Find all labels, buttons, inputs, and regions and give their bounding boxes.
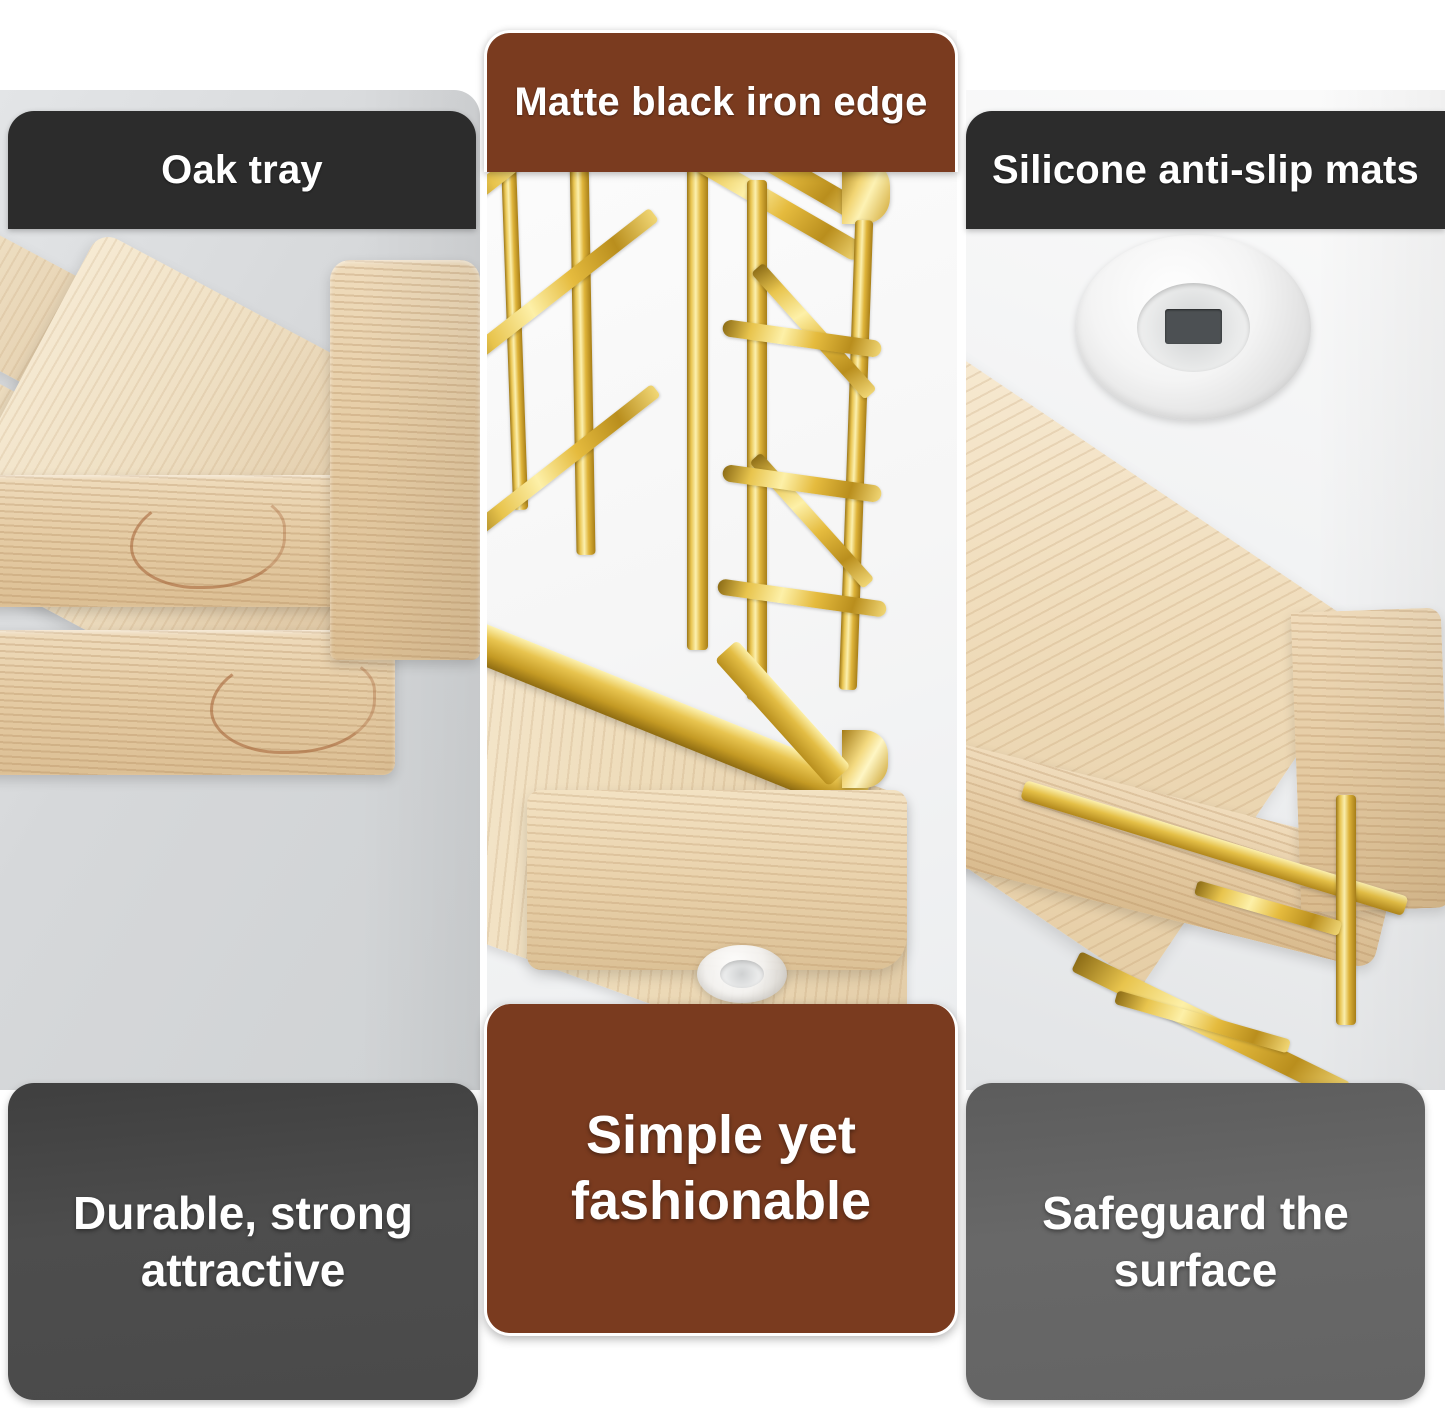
silicone-foot-dimple [720, 960, 763, 988]
oak-board-middle [0, 475, 370, 607]
photo-shadow-left [360, 90, 480, 1090]
header-matte-black-iron-edge: Matte black iron edge [484, 30, 958, 172]
header-silicone-anti-slip-mats: Silicone anti-slip mats [966, 111, 1445, 229]
header-oak-tray: Oak tray [8, 111, 476, 229]
gold-post-right-2 [839, 220, 873, 690]
silicone-foot-small [697, 945, 787, 1003]
caption-durable-strong-attractive: Durable, strong attractive [8, 1083, 478, 1400]
caption-simple-yet-fashionable: Simple yet fashionable [484, 1004, 958, 1336]
anti-slip-photo [966, 90, 1445, 1090]
oak-tray-photo [0, 90, 480, 1090]
oak-shelf-block [527, 790, 907, 970]
gold-base-corner-cap [842, 730, 888, 788]
iron-edge-photo [487, 30, 957, 1030]
gold-crossbar-3 [1114, 990, 1291, 1053]
caption-safeguard-the-surface: Safeguard the surface [966, 1083, 1425, 1400]
infographic-board: Oak tray Durable, strong attractive [0, 0, 1445, 1408]
silicone-anti-slip-foot [1076, 235, 1311, 420]
photo-shadow-right [1315, 90, 1445, 1090]
wood-knot [210, 652, 376, 754]
screw-head [1165, 309, 1221, 344]
gold-post-right-1 [747, 180, 767, 700]
wood-knot [130, 491, 286, 589]
